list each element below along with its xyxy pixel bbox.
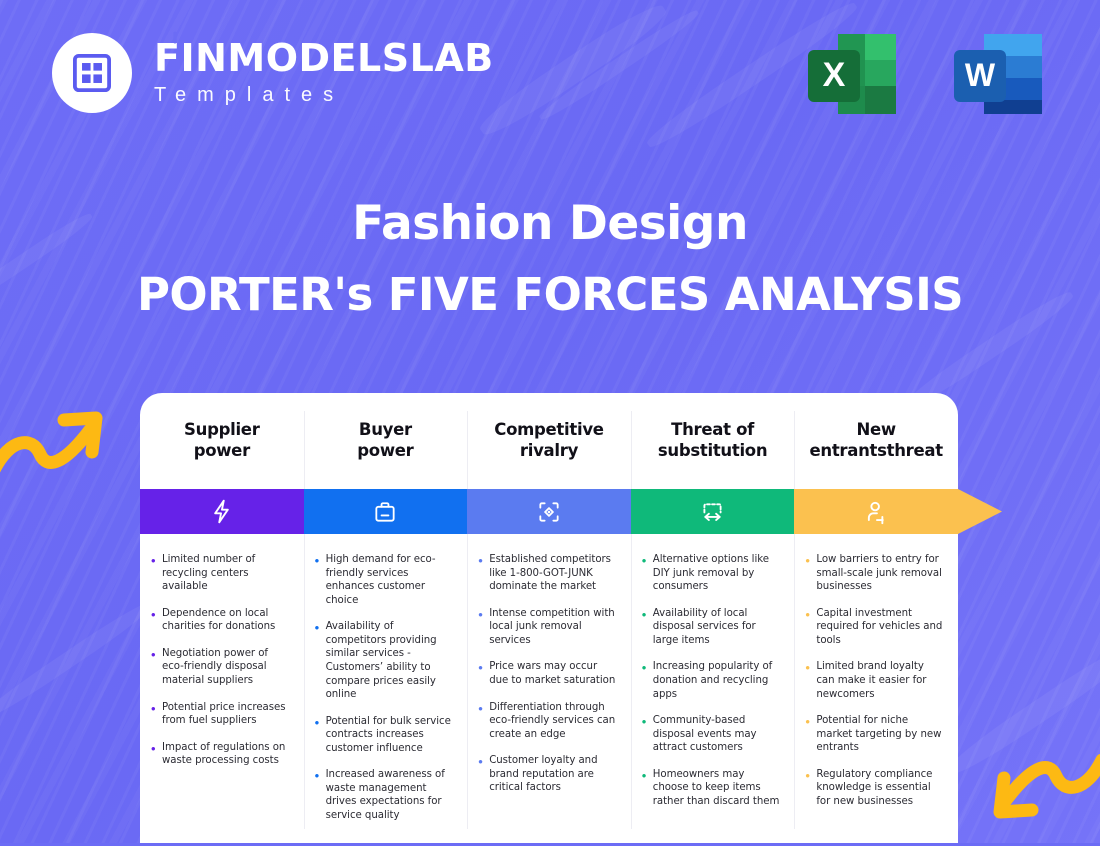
list-item: •Differentiation through eco-friendly se… xyxy=(478,701,617,742)
bullet-dot-icon: • xyxy=(151,741,162,768)
list-item: • High demand for eco-friendly services … xyxy=(315,553,454,607)
forces-columns: Supplierpower• Limited number of recycli… xyxy=(140,393,958,843)
force-color-band xyxy=(794,489,958,534)
list-item: •Increasing popularity of donation and r… xyxy=(642,660,781,701)
bullet-dot-icon: • xyxy=(478,754,489,795)
list-item: •Dependence on local charities for donat… xyxy=(151,607,290,634)
list-item: •Community-based disposal events may att… xyxy=(642,714,781,755)
logo-circle xyxy=(52,33,132,113)
bullet-dot-icon: • xyxy=(642,768,653,809)
list-item: •Regulatory compliance knowledge is esse… xyxy=(805,768,944,809)
bullet-dot-icon: • xyxy=(151,607,162,634)
bullet-text: High demand for eco-friendly services en… xyxy=(326,553,454,607)
force-color-band xyxy=(140,489,304,534)
force-column-header: Threat ofsubstitution xyxy=(631,393,795,489)
list-item: •Impact of regulations on waste processi… xyxy=(151,741,290,768)
force-bullet-list: •Established competitors like 1-800-GOT-… xyxy=(467,534,631,818)
bullet-text: Community-based disposal events may attr… xyxy=(653,714,781,755)
bullet-text: Alternative options like DIY junk remova… xyxy=(653,553,781,594)
brush-stroke xyxy=(475,0,672,142)
word-icon[interactable]: W xyxy=(950,28,1048,120)
bullet-dot-icon: • xyxy=(478,553,489,594)
force-column-buyer-power: Buyerpower• High demand for eco-friendly… xyxy=(304,393,468,843)
bullet-text: Potential for niche market targeting by … xyxy=(816,714,944,755)
title-block: Fashion Design PORTER's FIVE FORCES ANAL… xyxy=(0,196,1100,321)
force-color-band xyxy=(467,489,631,534)
list-item: •Negotiation power of eco-friendly dispo… xyxy=(151,647,290,688)
bullet-text: Negotiation power of eco-friendly dispos… xyxy=(162,647,290,688)
bullet-dot-icon: • xyxy=(315,768,326,822)
list-item: •Price wars may occur due to market satu… xyxy=(478,660,617,687)
list-item: •Intense competition with local junk rem… xyxy=(478,607,617,648)
bullet-dot-icon: • xyxy=(642,553,653,594)
bullet-text: Impact of regulations on waste processin… xyxy=(162,741,290,768)
force-bullet-list: • Low barriers to entry for small-scale … xyxy=(794,534,958,831)
bullet-text: Increasing popularity of donation and re… xyxy=(653,660,781,701)
brush-stroke xyxy=(536,6,701,124)
brand-logo[interactable]: FINMODELSLAB Templates xyxy=(52,33,494,113)
force-column-header: Supplierpower xyxy=(140,393,304,489)
bullet-dot-icon: • xyxy=(151,553,162,594)
swap-exchange-icon xyxy=(699,498,726,525)
bullet-dot-icon: • xyxy=(805,714,816,755)
brand-subtitle: Templates xyxy=(154,84,494,107)
list-item: •Potential price increases from fuel sup… xyxy=(151,701,290,728)
list-item: • Alternative options like DIY junk remo… xyxy=(642,553,781,594)
list-item: • Limited number of recycling centers av… xyxy=(151,553,290,594)
force-column-title: Newentrantsthreat xyxy=(810,420,943,462)
list-item: •Homeowners may choose to keep items rat… xyxy=(642,768,781,809)
force-column-header: Competitiverivalry xyxy=(467,393,631,489)
lightning-bolt-icon xyxy=(208,498,235,525)
bullet-dot-icon: • xyxy=(315,715,326,756)
excel-icon[interactable]: X xyxy=(804,28,902,120)
force-column-threat-of-substitution: Threat ofsubstitution• Alternative optio… xyxy=(631,393,795,843)
bullet-dot-icon: • xyxy=(151,701,162,728)
force-column-new-entrantsthreat: Newentrantsthreat• Low barriers to entry… xyxy=(794,393,958,843)
bullet-text: Dependence on local charities for donati… xyxy=(162,607,290,634)
force-bullet-list: • Limited number of recycling centers av… xyxy=(140,534,304,791)
list-item: • Low barriers to entry for small-scale … xyxy=(805,553,944,594)
bullet-text: Intense competition with local junk remo… xyxy=(489,607,617,648)
force-column-header: Buyerpower xyxy=(304,393,468,489)
bullet-text: Price wars may occur due to market satur… xyxy=(489,660,617,687)
force-color-band xyxy=(631,489,795,534)
force-column-title: Buyerpower xyxy=(357,420,413,462)
power-icon xyxy=(162,30,188,56)
force-column-competitive-rivalry: Competitiverivalry•Established competito… xyxy=(467,393,631,843)
focus-target-icon xyxy=(536,499,562,525)
briefcase-icon xyxy=(372,499,398,525)
svg-text:W: W xyxy=(965,57,996,93)
force-column-title: Threat ofsubstitution xyxy=(658,420,767,462)
force-bullet-list: • Alternative options like DIY junk remo… xyxy=(631,534,795,831)
list-item: •Capital investment required for vehicle… xyxy=(805,607,944,648)
list-item: •Established competitors like 1-800-GOT-… xyxy=(478,553,617,594)
bullet-dot-icon: • xyxy=(315,553,326,607)
bullet-text: Increased awareness of waste management … xyxy=(326,768,454,822)
force-bullet-list: • High demand for eco-friendly services … xyxy=(304,534,468,846)
list-item: •Customer loyalty and brand reputation a… xyxy=(478,754,617,795)
bullet-text: Potential for bulk service contracts inc… xyxy=(326,715,454,756)
bullet-dot-icon: • xyxy=(478,660,489,687)
bullet-dot-icon: • xyxy=(642,660,653,701)
bullet-text: Low barriers to entry for small-scale ju… xyxy=(816,553,944,594)
bullet-text: Differentiation through eco-friendly ser… xyxy=(489,701,617,742)
page-subtitle: PORTER's FIVE FORCES ANALYSIS xyxy=(0,268,1100,321)
bullet-dot-icon: • xyxy=(642,714,653,755)
list-item: •Increased awareness of waste management… xyxy=(315,768,454,822)
porters-five-forces-card: Supplierpower• Limited number of recycli… xyxy=(140,393,958,843)
bullet-text: Limited brand loyalty can make it easier… xyxy=(816,660,944,701)
force-column-supplier-power: Supplierpower• Limited number of recycli… xyxy=(140,393,304,843)
bullet-text: Capital investment required for vehicles… xyxy=(816,607,944,648)
bullet-text: Regulatory compliance knowledge is essen… xyxy=(816,768,944,809)
bullet-dot-icon: • xyxy=(315,620,326,701)
bullet-text: Availability of competitors providing si… xyxy=(326,620,454,701)
bullet-dot-icon: • xyxy=(151,647,162,688)
force-column-title: Competitiverivalry xyxy=(494,420,603,462)
bullet-dot-icon: • xyxy=(805,607,816,648)
list-item: •Availability of competitors providing s… xyxy=(315,620,454,701)
squiggly-arrow-up-right-icon xyxy=(0,398,127,490)
list-item: •Potential for bulk service contracts in… xyxy=(315,715,454,756)
list-item: •Limited brand loyalty can make it easie… xyxy=(805,660,944,701)
band-arrow-tip xyxy=(958,480,1002,543)
squiggly-arrow-down-left-icon xyxy=(969,738,1100,830)
bullet-text: Limited number of recycling centers avai… xyxy=(162,553,290,594)
page-title: Fashion Design xyxy=(0,196,1100,251)
brush-stroke xyxy=(0,597,155,722)
bullet-text: Customer loyalty and brand reputation ar… xyxy=(489,754,617,795)
force-column-header: Newentrantsthreat xyxy=(794,393,958,489)
bullet-text: Homeowners may choose to keep items rath… xyxy=(653,768,781,809)
bullet-dot-icon: • xyxy=(805,553,816,594)
format-icons: X W xyxy=(804,28,1048,120)
bullet-text: Established competitors like 1-800-GOT-J… xyxy=(489,553,617,594)
bullet-dot-icon: • xyxy=(478,607,489,648)
force-column-title: Supplierpower xyxy=(184,420,260,462)
bullet-text: Potential price increases from fuel supp… xyxy=(162,701,290,728)
list-item: •Potential for niche market targeting by… xyxy=(805,714,944,755)
force-color-band xyxy=(304,489,468,534)
bullet-text: Availability of local disposal services … xyxy=(653,607,781,648)
svg-text:X: X xyxy=(823,56,846,94)
bullet-dot-icon: • xyxy=(478,701,489,742)
bullet-dot-icon: • xyxy=(642,607,653,648)
bullet-dot-icon: • xyxy=(805,660,816,701)
bullet-dot-icon: • xyxy=(805,768,816,809)
list-item: •Availability of local disposal services… xyxy=(642,607,781,648)
grid-squares-icon xyxy=(73,54,111,92)
brand-name: FINMODELSLAB xyxy=(154,39,494,77)
add-person-icon xyxy=(863,498,890,525)
